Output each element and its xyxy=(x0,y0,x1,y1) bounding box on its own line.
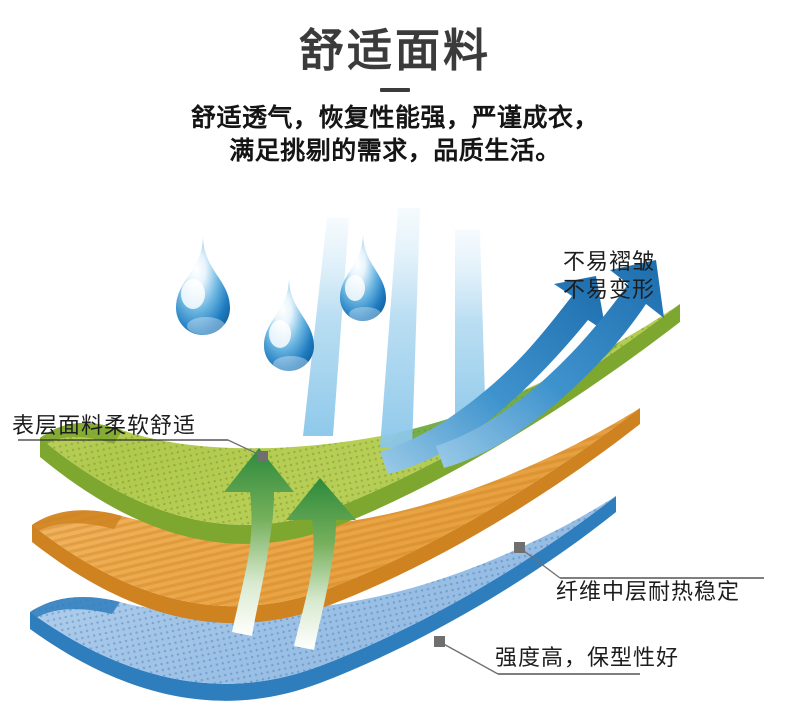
label-no-wrinkle: 不易褶皱 不易变形 xyxy=(563,248,655,303)
label-top-layer: 表层面料柔软舒适 xyxy=(12,412,196,440)
page-title: 舒适面料 xyxy=(0,0,790,76)
leader-line-strength xyxy=(440,642,498,674)
title-divider xyxy=(380,88,410,92)
label-no-deform-line-2: 不易变形 xyxy=(563,276,655,304)
fabric-infographic-page: 舒适面料 舒适透气，恢复性能强，严谨成衣， 满足挑剔的需求，品质生活。 xyxy=(0,0,790,726)
marker-strength xyxy=(434,636,445,647)
header: 舒适面料 舒适透气，恢复性能强，严谨成衣， 满足挑剔的需求，品质生活。 xyxy=(0,0,790,168)
marker-top-layer xyxy=(257,451,268,462)
label-mid-layer: 纤维中层耐热稳定 xyxy=(556,578,740,606)
subtitle-line-1: 舒适透气，恢复性能强，严谨成衣， xyxy=(0,102,790,135)
marker-mid-layer xyxy=(514,542,525,553)
water-droplets xyxy=(176,234,386,372)
subtitle: 舒适透气，恢复性能强，严谨成衣， 满足挑剔的需求，品质生活。 xyxy=(0,102,790,168)
water-droplet-1 xyxy=(176,236,230,335)
water-droplet-2 xyxy=(264,278,314,372)
water-droplet-3 xyxy=(340,234,386,321)
subtitle-line-2: 满足挑剔的需求，品质生活。 xyxy=(0,135,790,168)
label-strength: 强度高，保型性好 xyxy=(495,644,679,672)
label-no-wrinkle-line-1: 不易褶皱 xyxy=(563,249,655,274)
